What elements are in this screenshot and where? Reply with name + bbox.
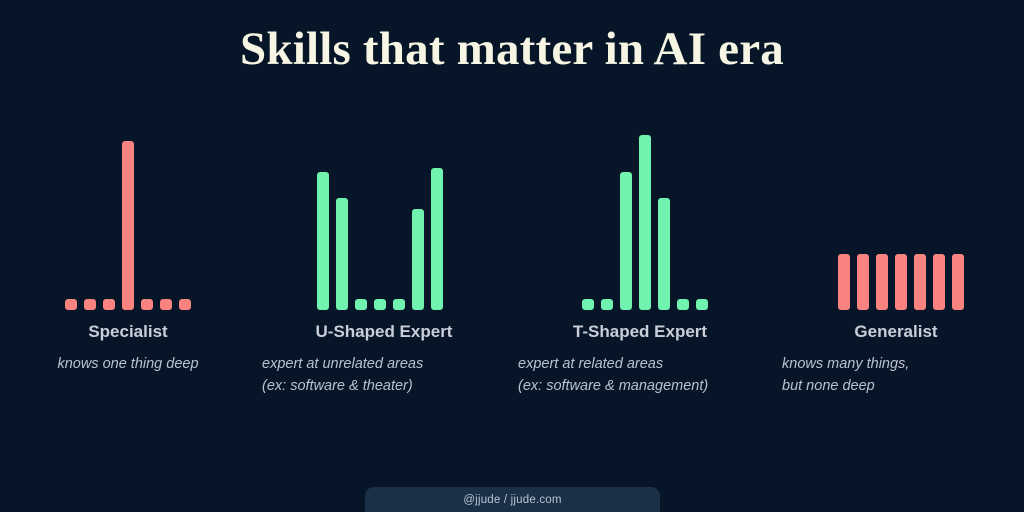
chart-groups-row: Specialistknows one thing deepU-Shaped E… [0,130,1024,430]
bar [952,254,964,310]
group-label: Specialist [88,322,167,342]
group-description-line: expert at related areas [518,353,708,375]
bar-chart [582,130,708,310]
bar [122,141,134,310]
bar-chart [65,130,191,310]
bar [65,299,77,310]
bar [141,299,153,310]
group-description-line: expert at unrelated areas [262,353,423,375]
group-description: knows many things,but none deep [782,353,909,398]
bar [374,299,386,310]
group-label: Generalist [854,322,937,342]
footer-credit: @jjude / jjude.com [463,494,561,506]
bar [696,299,708,310]
bar [677,299,689,310]
bar [658,198,670,311]
bar [412,209,424,310]
group-description-line: knows many things, [782,353,909,375]
bar [393,299,405,310]
bar-chart [317,130,443,310]
bar [179,299,191,310]
group-description-line: (ex: software & theater) [262,375,423,397]
bar [317,172,329,310]
group-label: T-Shaped Expert [573,322,707,342]
group-description-line: but none deep [782,375,909,397]
chart-group-specialist: Specialistknows one thing deep [0,130,256,430]
bar [876,254,888,310]
bar [639,135,651,311]
bar [582,299,594,310]
group-description-line: knows one thing deep [57,353,198,375]
bar [601,299,613,310]
bar [84,299,96,310]
bar [914,254,926,310]
bar [895,254,907,310]
bar [620,172,632,310]
group-description: knows one thing deep [57,353,198,375]
chart-group-u-shaped-expert: U-Shaped Expertexpert at unrelated areas… [256,130,512,430]
bar [431,168,443,310]
page-title: Skills that matter in AI era [0,22,1024,76]
group-description: expert at related areas(ex: software & m… [518,353,708,398]
group-label: U-Shaped Expert [316,322,453,342]
bar [838,254,850,310]
bar [160,299,172,310]
group-description: expert at unrelated areas(ex: software &… [262,353,423,398]
bar [103,299,115,310]
bar [336,198,348,311]
chart-group-t-shaped-expert: T-Shaped Expertexpert at related areas(e… [512,130,768,430]
bar [355,299,367,310]
footer-bar: @jjude / jjude.com [365,487,660,512]
bar [933,254,945,310]
group-description-line: (ex: software & management) [518,375,708,397]
bar [857,254,869,310]
bar-chart [838,130,964,310]
chart-group-generalist: Generalistknows many things,but none dee… [768,130,1024,430]
